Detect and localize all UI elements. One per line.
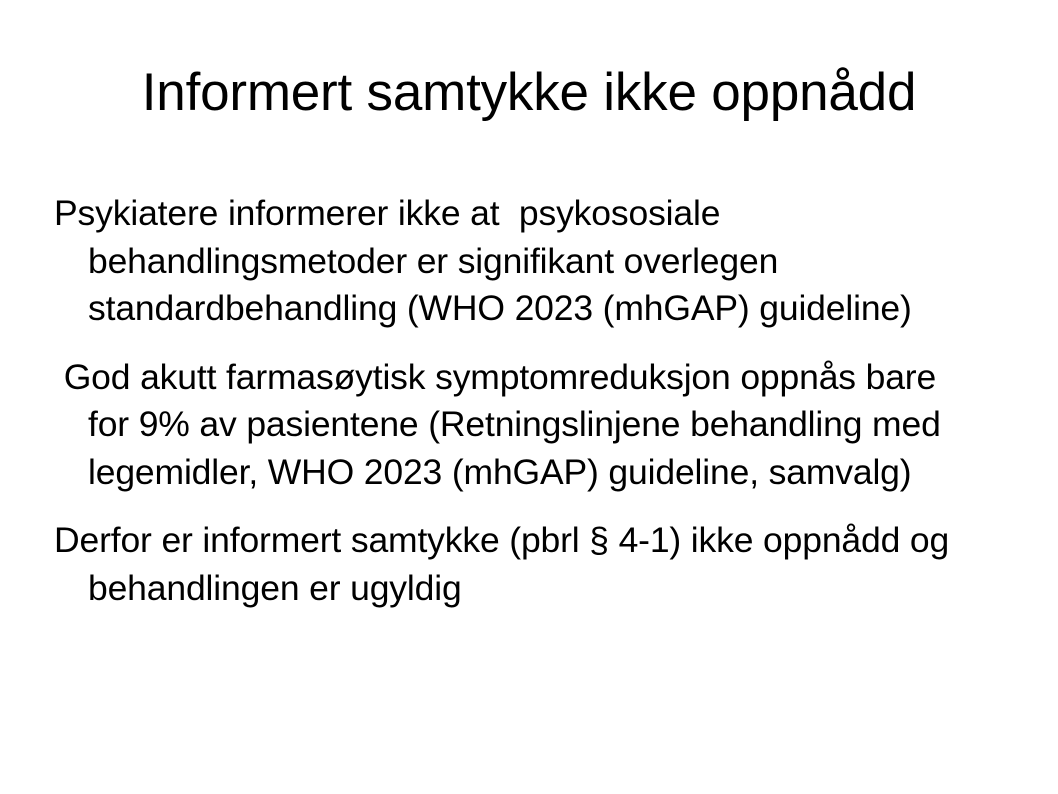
page-title: Informert samtykke ikke oppnådd	[0, 62, 1058, 124]
slide-body: Psykiatere informerer ikke at psykososia…	[54, 190, 954, 612]
body-paragraph-1: Psykiatere informerer ikke at psykososia…	[54, 190, 954, 333]
body-paragraph-3: Derfor er informert samtykke (pbrl § 4-1…	[54, 517, 954, 612]
body-paragraph-2: God akutt farmasøytisk symptomreduksjon …	[54, 354, 954, 497]
slide-canvas: Informert samtykke ikke oppnådd Psykiate…	[0, 0, 1058, 794]
